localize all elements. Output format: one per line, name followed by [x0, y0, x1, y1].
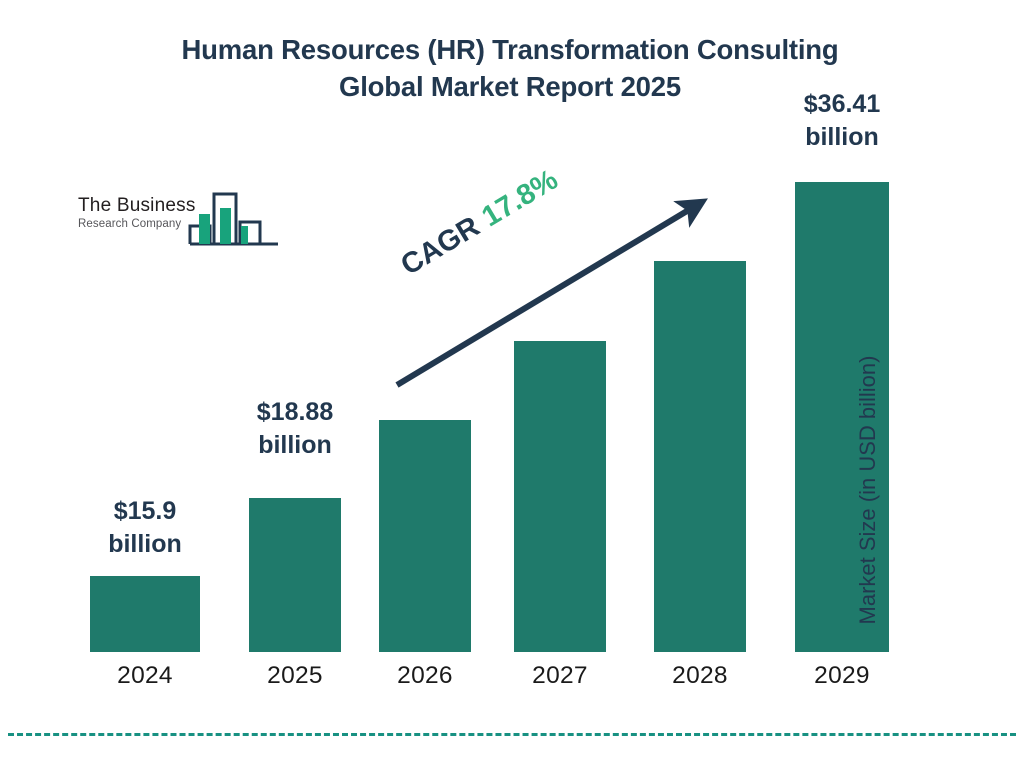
y-axis-title: Market Size (in USD billion) [855, 330, 881, 650]
chart-canvas: Human Resources (HR) Transformation Cons… [0, 0, 1024, 768]
footer-divider [8, 733, 1016, 736]
